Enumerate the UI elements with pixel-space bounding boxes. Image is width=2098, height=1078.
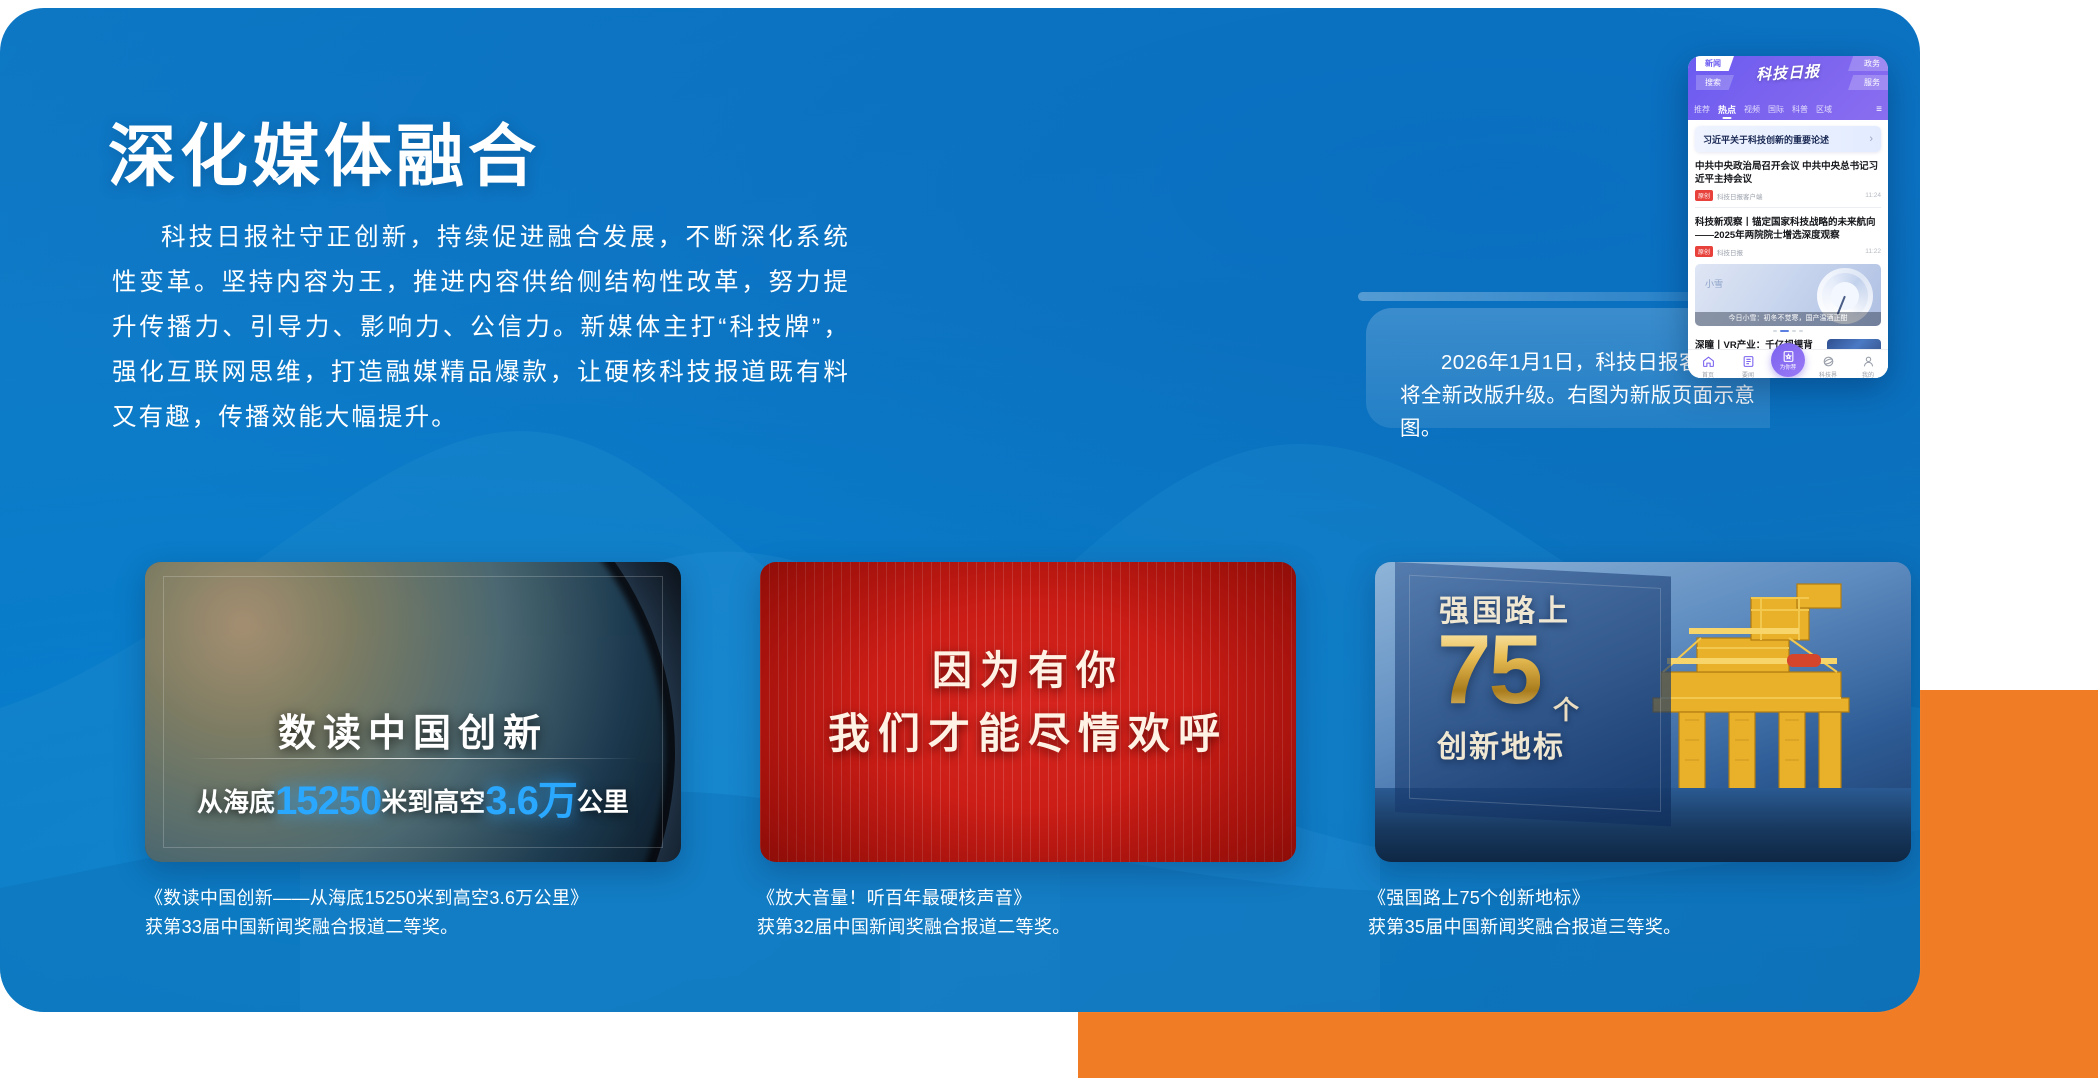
award-card-3[interactable]: 强国路上 75 个 创新地标 [1375, 562, 1911, 862]
card-3-caption: 《强国路上75个创新地标》 获第35届中国新闻奖融合报道三等奖。 [1368, 884, 1920, 942]
phone-feature-banner[interactable]: 习近平关于科技创新的重要论述 › [1695, 126, 1881, 152]
phone-story-1-source: 科技日报客户端 [1717, 191, 1763, 201]
card-1-caption: 《数读中国创新——从海底15250米到高空3.6万公里》 获第33届中国新闻奖融… [145, 884, 765, 942]
phone-feature-image[interactable]: 小雪 今日小雪：初冬不觉寒，国产温酒正酣 [1695, 264, 1881, 326]
card-1-subtitle: 从海底15250米到高空3.6万公里 [145, 768, 681, 826]
phone-nav-item-1[interactable]: 热点 [1718, 103, 1736, 116]
phone-tabbar-recommend-label: 为你荐 [1780, 363, 1797, 371]
slide-root: 深化媒体融合 科技日报社守正创新，持续促进融合发展，不断深化系统性变革。坚持内容… [0, 0, 2098, 1078]
phone-tab-service[interactable]: 服务 [1848, 75, 1888, 90]
hamburger-menu-icon[interactable]: ≡ [1876, 104, 1882, 115]
phone-nav-item-4[interactable]: 科普 [1792, 104, 1808, 115]
carousel-dot-3 [1799, 330, 1803, 332]
carousel-dot-0 [1773, 330, 1777, 332]
card-2-line-2: 我们才能尽情欢呼 [760, 700, 1296, 761]
phone-nav-item-5[interactable]: 区域 [1816, 104, 1832, 115]
card-1-title: 数读中国创新 [145, 702, 681, 757]
phone-story-2-headline[interactable]: 科技新观察丨锚定国家科技战略的未来航向——2025年两院院士增选深度观察 [1695, 216, 1881, 242]
home-icon [1702, 355, 1715, 368]
phone-story-2-tag: 原创 [1695, 246, 1713, 257]
card-3-line-2: 创新地标 [1437, 722, 1565, 766]
phone-tab-affairs[interactable]: 政务 [1848, 56, 1888, 71]
phone-tabbar-news[interactable]: 要闻 [1731, 355, 1765, 378]
phone-app-header: 新闻 搜索 政务 服务 科技日报 推荐 热点 视频 国际 科普 区域 ≡ [1688, 56, 1888, 120]
phone-divider-1 [1695, 207, 1881, 208]
award-card-1[interactable]: 数读中国创新 从海底15250米到高空3.6万公里 [145, 562, 681, 862]
phone-feature-caption: 今日小雪：初冬不觉寒，国产温酒正酣 [1695, 312, 1881, 326]
phone-story-2-meta: 原创 科技日报 11:22 [1695, 246, 1881, 257]
phone-story-1-meta: 原创 科技日报客户端 11:24 [1695, 190, 1881, 201]
phone-tabbar-mine-label: 我的 [1862, 370, 1874, 378]
body-paragraph: 科技日报社守正创新，持续促进融合发展，不断深化系统性变革。坚持内容为王，推进内容… [112, 215, 850, 440]
card-1-sub-suffix: 公里 [577, 787, 629, 817]
card-1-number-2: 3.6万 [485, 779, 577, 823]
phone-tabbar-news-label: 要闻 [1742, 370, 1754, 378]
phone-nav-item-3[interactable]: 国际 [1768, 104, 1784, 115]
phone-banner-text: 习近平关于科技创新的重要论述 [1703, 133, 1829, 146]
phone-tabbar-home[interactable]: 首页 [1691, 355, 1725, 378]
phone-story-1-time: 11:24 [1865, 192, 1881, 199]
card-2-caption: 《放大音量！听百年最硬核声音》 获第32届中国新闻奖融合报道二等奖。 [757, 884, 1377, 942]
phone-feed: 习近平关于科技创新的重要论述 › 中共中央政治局召开会议 中共中央总书记习近平主… [1688, 126, 1888, 378]
phone-masthead-logo: 科技日报 [1755, 60, 1820, 84]
card-1-rule [189, 758, 637, 759]
phone-tabbar-recommend[interactable]: 为你荐 [1771, 343, 1805, 377]
user-icon [1862, 355, 1875, 368]
phone-nav-item-0[interactable]: 推荐 [1694, 104, 1710, 115]
phone-nav-item-2[interactable]: 视频 [1744, 104, 1760, 115]
phone-tab-search[interactable]: 搜索 [1696, 75, 1734, 90]
phone-category-nav: 推荐 热点 视频 国际 科普 区域 ≡ [1688, 101, 1888, 117]
card-2-line-1: 因为有你 [760, 638, 1296, 696]
card-1-number-1: 15250 [275, 779, 381, 823]
phone-carousel-dots[interactable] [1695, 330, 1881, 332]
card-1-sub-mid: 米到高空 [381, 787, 485, 817]
phone-mockup: 新闻 搜索 政务 服务 科技日报 推荐 热点 视频 国际 科普 区域 ≡ 习近平… [1688, 56, 1888, 378]
phone-tab-news[interactable]: 新闻 [1696, 56, 1734, 71]
card-1-sub-prefix: 从海底 [197, 787, 275, 817]
phone-story-2-source: 科技日报 [1717, 247, 1743, 257]
card-3-big-number: 75 [1437, 620, 1540, 718]
star-badge-icon [1782, 350, 1795, 363]
phone-tabbar-mine[interactable]: 我的 [1851, 355, 1885, 378]
globe-icon [1822, 355, 1835, 368]
phone-feature-overlay-text: 小雪 [1705, 278, 1723, 290]
document-icon [1742, 355, 1755, 368]
phone-tabbar-home-label: 首页 [1702, 370, 1714, 378]
chevron-right-icon: › [1869, 133, 1873, 145]
phone-tabbar-sci[interactable]: 科技界 [1811, 355, 1845, 378]
phone-tab-bar: 首页 要闻 为你荐 [1688, 349, 1888, 378]
carousel-dot-1 [1780, 330, 1789, 332]
award-card-2[interactable]: 因为有你 我们才能尽情欢呼 [760, 562, 1296, 862]
phone-story-1-tag: 原创 [1695, 190, 1713, 201]
gauge-inner [1831, 282, 1859, 310]
phone-story-2-time: 11:22 [1865, 248, 1881, 255]
carousel-dot-2 [1792, 330, 1796, 332]
page-title: 深化媒体融合 [108, 122, 540, 193]
phone-tabbar-sci-label: 科技界 [1819, 370, 1837, 378]
phone-story-1-headline[interactable]: 中共中央政治局召开会议 中共中央总书记习近平主持会议 [1695, 160, 1881, 186]
blue-content-panel: 深化媒体融合 科技日报社守正创新，持续促进融合发展，不断深化系统性变革。坚持内容… [0, 8, 1920, 1012]
